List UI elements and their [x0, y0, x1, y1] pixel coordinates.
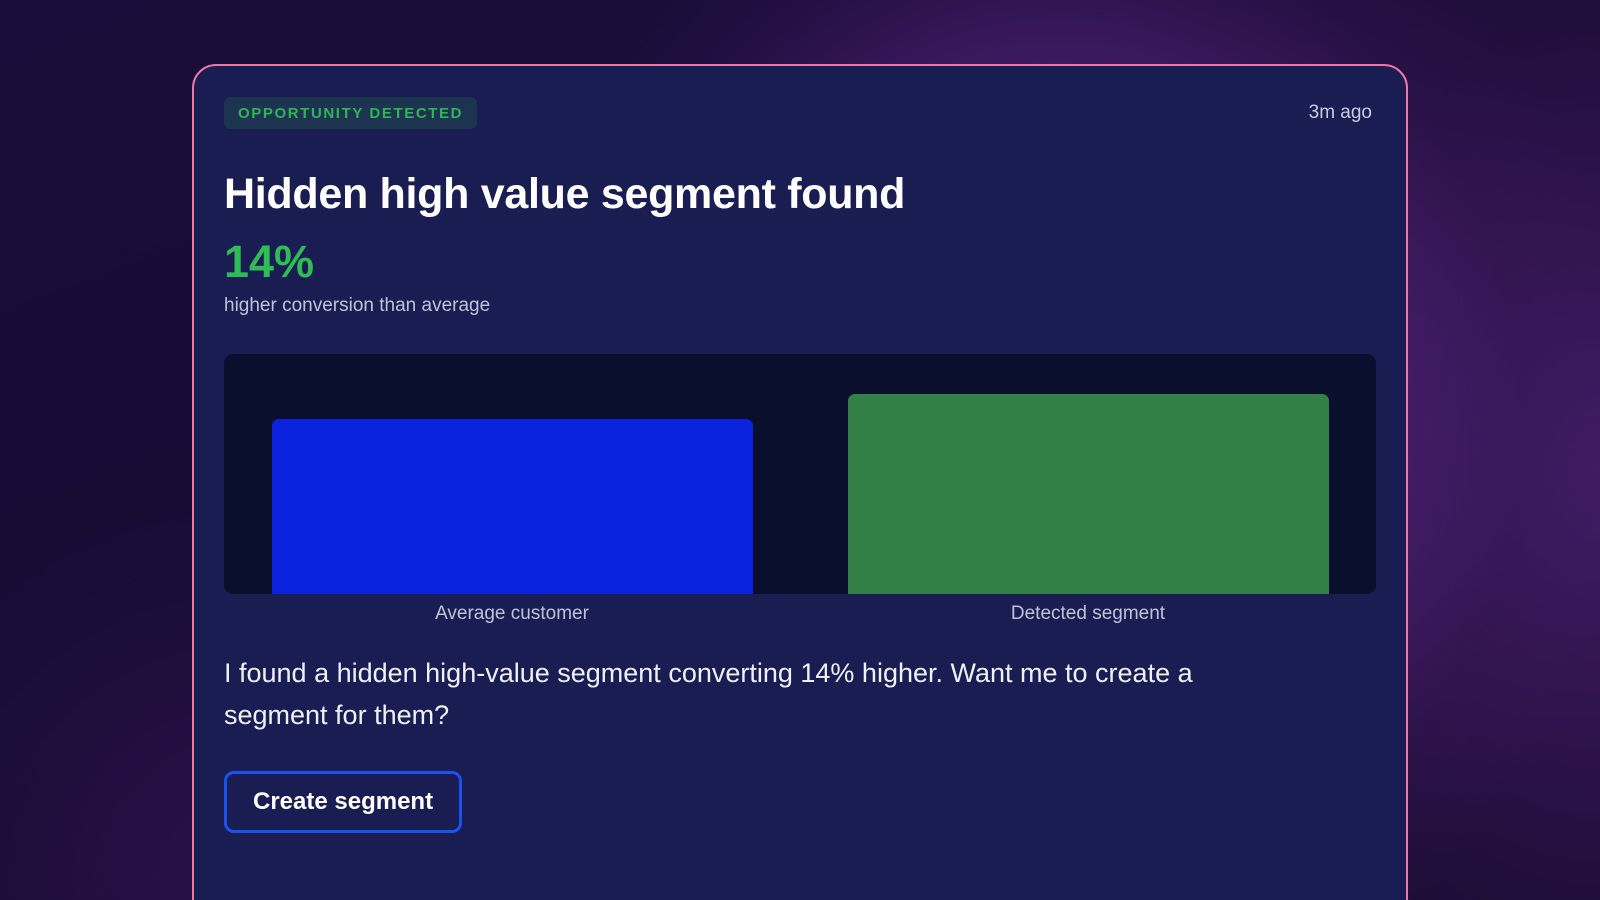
insight-card: OPPORTUNITY DETECTED 3m ago Hidden high …: [192, 64, 1408, 900]
stat-caption: higher conversion than average: [224, 295, 1376, 317]
chart-axis-labels: Average customer Detected segment: [224, 603, 1376, 625]
timestamp: 3m ago: [1309, 102, 1372, 124]
stat-value: 14%: [224, 239, 1376, 284]
page-title: Hidden high value segment found: [224, 172, 1376, 217]
bar-average-customer: [272, 419, 753, 594]
card-header: OPPORTUNITY DETECTED 3m ago: [224, 96, 1376, 130]
bar-column-detected: [800, 354, 1376, 594]
create-segment-button[interactable]: Create segment: [224, 771, 462, 833]
status-badge: OPPORTUNITY DETECTED: [224, 97, 477, 129]
axis-label-detected: Detected segment: [800, 603, 1376, 625]
comparison-bar-chart: [224, 354, 1376, 594]
axis-label-average: Average customer: [224, 603, 800, 625]
bar-column-average: [224, 354, 800, 594]
chart-bars: [224, 354, 1376, 594]
assistant-message: I found a hidden high-value segment conv…: [224, 653, 1284, 737]
bar-detected-segment: [848, 394, 1329, 594]
